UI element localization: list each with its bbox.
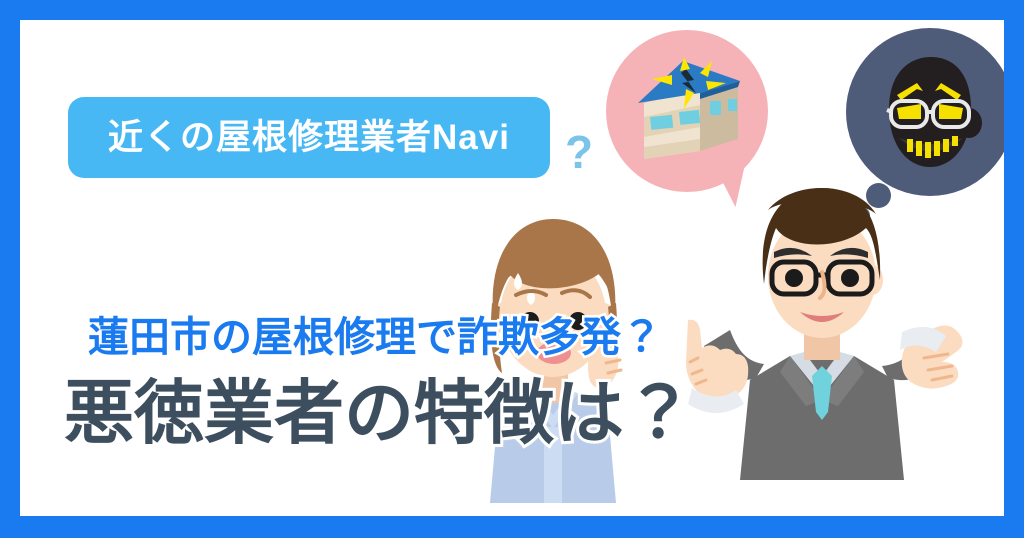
villain-face-icon	[873, 53, 989, 173]
site-name-badge[interactable]: 近くの屋根修理業者Navi	[68, 97, 550, 178]
inner-white-card: 近くの屋根修理業者Navi ? 蓮田市の屋根修理で詐欺多発？ 悪徳業者の特徴は？…	[20, 20, 1004, 516]
site-name-label: 近くの屋根修理業者Navi	[108, 120, 510, 155]
eyecatch-canvas: 近くの屋根修理業者Navi ? 蓮田市の屋根修理で詐欺多発？ 悪徳業者の特徴は？…	[0, 0, 1024, 538]
badge-question-mark: ?	[565, 129, 593, 175]
headline-subtitle: 蓮田市の屋根修理で詐欺多発？	[88, 315, 662, 360]
headline-title: 悪徳業者の特徴は？	[64, 375, 694, 452]
damaged-house-icon	[628, 55, 748, 167]
pointing-businessman-illustration	[672, 180, 972, 516]
